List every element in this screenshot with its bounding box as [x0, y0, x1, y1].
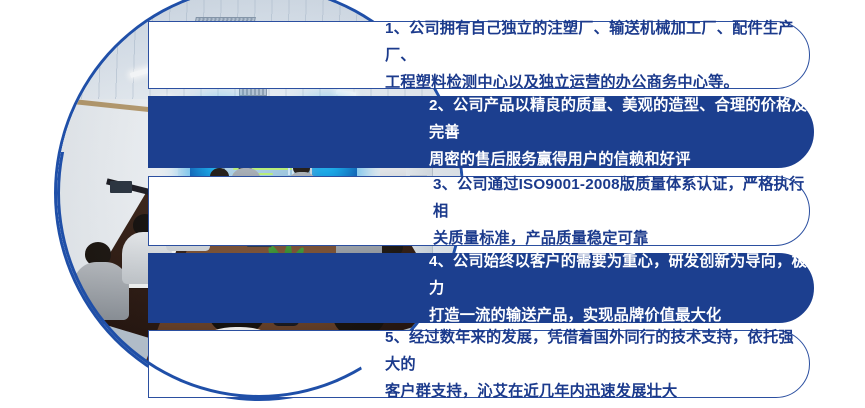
- advantage-item-1[interactable]: 1、公司拥有自己独立的注塑厂、输送机械加工厂、配件生产厂、 工程塑料检测中心以及…: [148, 21, 810, 89]
- advantage-item-3-text: 3、公司通过ISO9001-2008版质量体系认证，严格执行相 关质量标准，产品…: [433, 171, 809, 252]
- advantage-item-5[interactable]: 5、经过数年来的发展，凭借着国外同行的技术支持，依托强大的 客户群支持，沁艾在近…: [148, 330, 810, 398]
- advantage-item-5-text: 5、经过数年来的发展，凭借着国外同行的技术支持，依托强大的 客户群支持，沁艾在近…: [385, 324, 809, 405]
- advantage-item-2-text: 2、公司产品以精良的质量、美观的造型、合理的价格及完善 周密的售后服务赢得用户的…: [429, 92, 813, 173]
- advantage-item-3[interactable]: 3、公司通过ISO9001-2008版质量体系认证，严格执行相 关质量标准，产品…: [148, 176, 810, 246]
- advantage-item-4[interactable]: 4、公司始终以客户的需要为重心，研发创新为导向，极力 打造一流的输送产品，实现品…: [148, 253, 814, 323]
- advantage-item-4-text: 4、公司始终以客户的需要为重心，研发创新为导向，极力 打造一流的输送产品，实现品…: [429, 248, 813, 329]
- advantage-item-1-text: 1、公司拥有自己独立的注塑厂、输送机械加工厂、配件生产厂、 工程塑料检测中心以及…: [385, 15, 809, 96]
- advantage-item-2[interactable]: 2、公司产品以精良的质量、美观的造型、合理的价格及完善 周密的售后服务赢得用户的…: [148, 96, 814, 168]
- company-advantages-banner: 1、公司拥有自己独立的注塑厂、输送机械加工厂、配件生产厂、 工程塑料检测中心以及…: [0, 0, 865, 408]
